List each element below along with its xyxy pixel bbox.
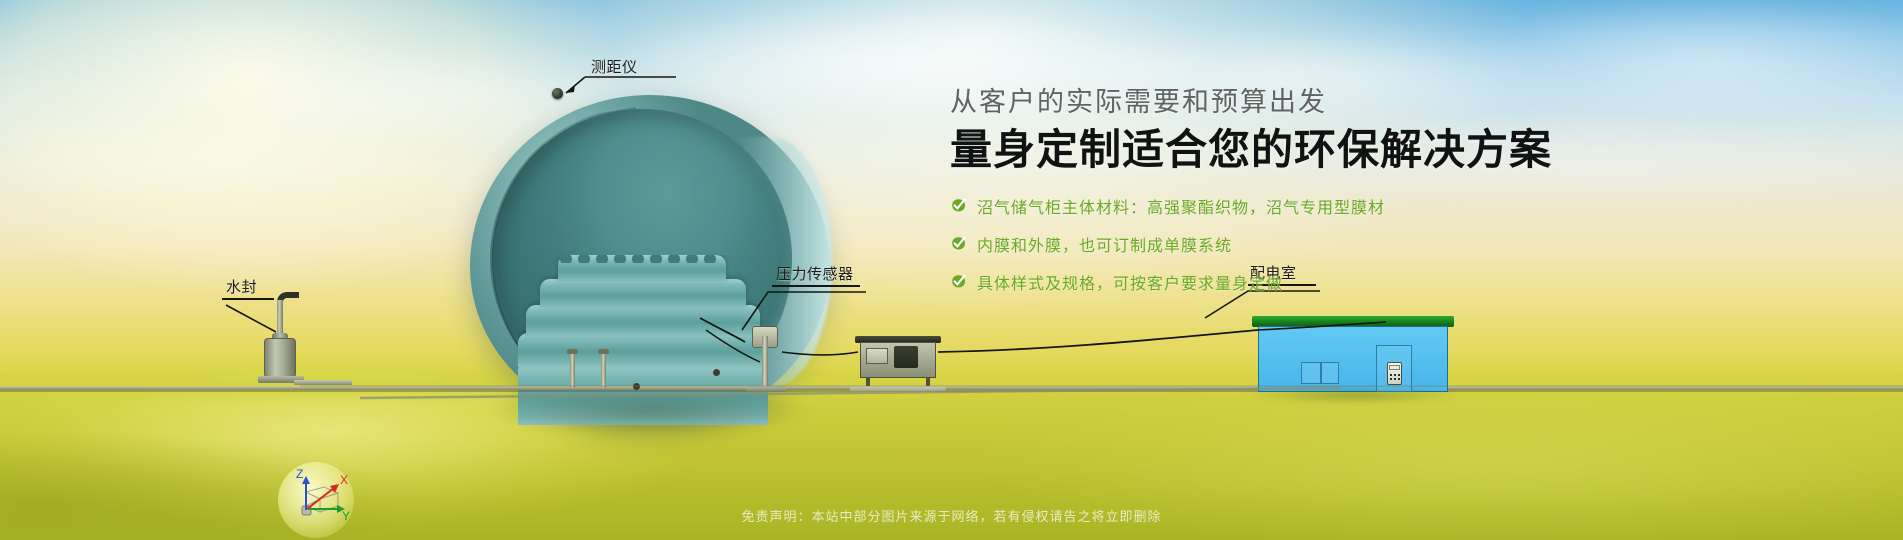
feature-text: 具体样式及规格，可按客户要求量身定做 <box>977 270 1283 294</box>
check-badge-icon <box>950 273 968 291</box>
riser-pipe <box>601 352 606 388</box>
feature-text: 内膜和外膜，也可订制成单膜系统 <box>977 232 1232 256</box>
skid-foundation <box>850 386 946 391</box>
sensor-stand <box>762 336 768 392</box>
callout-underline <box>772 285 860 287</box>
feature-bullet-list: 沼气储气柜主体材料：高强聚酯织物，沼气专用型膜材 内膜和外膜，也可订制成单膜系统 <box>950 194 1650 294</box>
promo-headline: 量身定制适合您的环保解决方案 <box>950 122 1650 178</box>
axis-orientation-gizmo: Z X Y <box>278 462 354 538</box>
pipe-fitting <box>633 383 640 390</box>
callout-label-rangefinder: 测距仪 <box>585 58 638 78</box>
skid-panel-window <box>866 348 888 364</box>
control-panel-display <box>1389 365 1400 370</box>
building-wall <box>1258 326 1448 392</box>
pressure-sensor-unit <box>740 320 800 392</box>
callout-underline <box>222 298 274 300</box>
dome-shadow <box>490 395 810 435</box>
control-panel-buttons <box>1389 373 1400 382</box>
banner-stage: Z X Y 测距仪 水封 压力传感器 配电室 从客户的实际需要和预算出发 量身定… <box>0 0 1903 540</box>
building-window <box>1301 362 1339 384</box>
callout-water-seal: 水封 <box>222 278 274 300</box>
axis-label-x: X <box>340 473 348 487</box>
outlet-pipe <box>294 380 352 385</box>
check-badge-icon <box>950 235 968 253</box>
membrane-layer <box>540 279 746 309</box>
rangefinder-sensor-icon <box>552 88 563 99</box>
pipe-fitting <box>713 369 720 376</box>
building-shadow <box>1248 390 1460 404</box>
promo-subtitle: 从客户的实际需要和预算出发 <box>950 84 1650 120</box>
skid-motor <box>894 346 918 368</box>
list-item: 具体样式及规格，可按客户要求量身定做 <box>950 270 1650 294</box>
axis-label-z: Z <box>296 467 303 481</box>
sensor-base <box>746 386 786 392</box>
membrane-layer <box>518 333 768 367</box>
callout-label-water-seal: 水封 <box>222 278 274 298</box>
water-seal-vessel <box>264 338 296 378</box>
axis-x-arrow <box>330 484 339 493</box>
membrane-layer <box>526 305 760 337</box>
callout-label-pressure-sensor: 压力传感器 <box>772 265 860 285</box>
callout-pressure-sensor: 压力传感器 <box>772 265 860 287</box>
compressor-skid <box>858 336 938 388</box>
check-badge-icon <box>950 197 968 215</box>
membrane-corrugation <box>558 255 728 263</box>
list-item: 内膜和外膜，也可订制成单膜系统 <box>950 232 1650 256</box>
callout-rangefinder: 测距仪 <box>585 58 638 78</box>
water-seal-unit <box>258 300 304 392</box>
riser-cap <box>567 349 578 354</box>
list-item: 沼气储气柜主体材料：高强聚酯织物，沼气专用型膜材 <box>950 194 1650 218</box>
disclaimer-text: 免责声明：本站中部分图片来源于网络，若有侵权请告之将立即删除 <box>0 506 1903 525</box>
feature-text: 沼气储气柜主体材料：高强聚酯织物，沼气专用型膜材 <box>977 194 1385 218</box>
distribution-room-building <box>1258 316 1448 392</box>
skid-legs <box>860 378 936 386</box>
riser-pipe <box>570 352 575 388</box>
riser-cap <box>598 349 609 354</box>
promo-text-panel: 从客户的实际需要和预算出发 量身定制适合您的环保解决方案 沼气储气柜主体材料：高… <box>950 84 1650 308</box>
